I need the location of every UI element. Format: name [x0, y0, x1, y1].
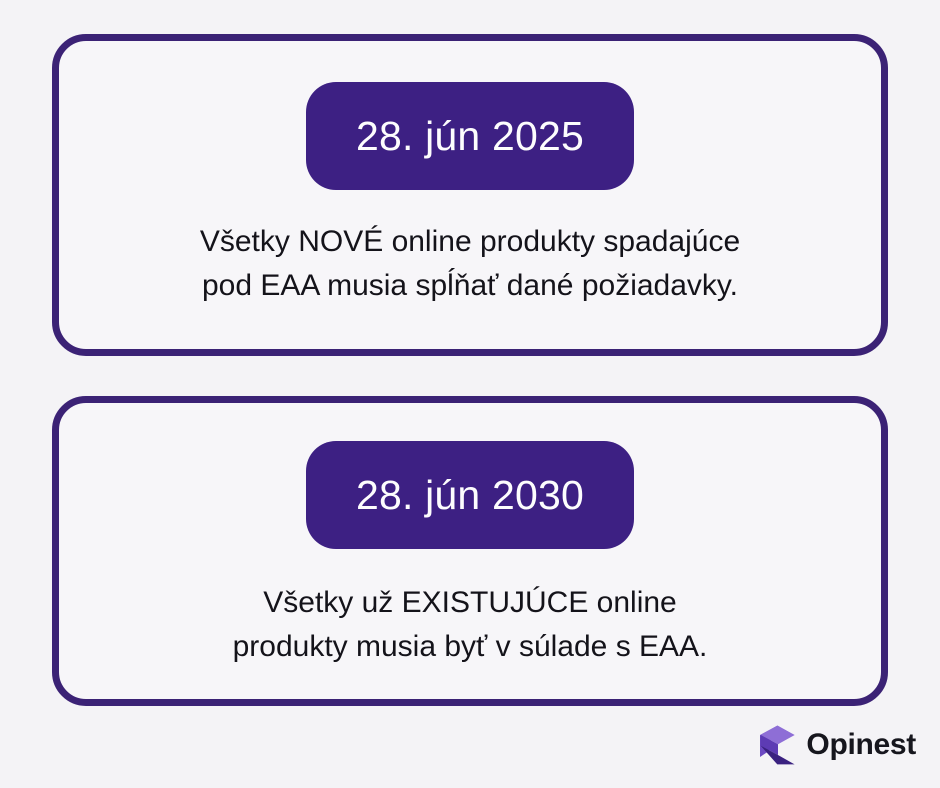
date-badge-2025: 28. jún 2025 [306, 82, 634, 190]
eaa-timeline-infographic: 28. jún 2025 Všetky NOVÉ online produkty… [0, 0, 940, 788]
opinest-logo-text: Opinest [806, 730, 916, 760]
timeline-card-2025: 28. jún 2025 Všetky NOVÉ online produkty… [52, 34, 888, 356]
timeline-card-2030: 28. jún 2030 Všetky už EXISTUJÚCE online… [52, 396, 888, 706]
date-pill-wrap: 28. jún 2030 [59, 441, 881, 549]
date-badge-2030: 28. jún 2030 [306, 441, 634, 549]
card-body-text-2025: Všetky NOVÉ online produkty spadajúce po… [59, 220, 881, 308]
opinest-logo: Opinest [757, 724, 916, 766]
card-body-text-2030: Všetky už EXISTUJÚCE online produkty mus… [59, 581, 881, 669]
date-pill-wrap: 28. jún 2025 [59, 82, 881, 190]
opinest-cube-icon [757, 724, 797, 766]
